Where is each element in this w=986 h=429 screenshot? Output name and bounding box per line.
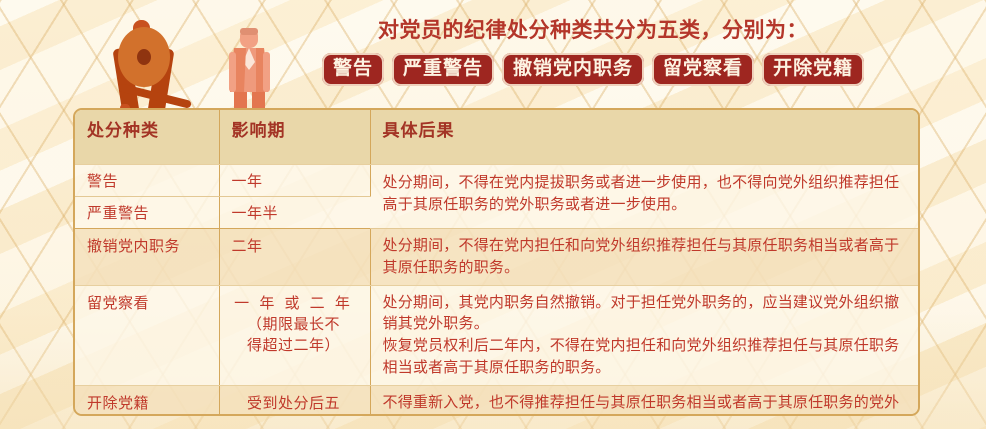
discipline-table: 处分种类 影响期 具体后果 警告 一年 处分期间，不得在党内提拔职务或者进一步使… <box>75 110 918 416</box>
cell-kind-expulsion: 开除党籍 <box>75 385 219 416</box>
period-line-2: （期限最长不 <box>230 313 358 334</box>
badge-expulsion[interactable]: 开除党籍 <box>762 53 864 86</box>
period-line-1: 受到处分后五 <box>230 392 358 413</box>
column-header-kind: 处分种类 <box>75 110 219 165</box>
badge-warning[interactable]: 警告 <box>322 53 384 86</box>
discipline-table-container: 处分种类 影响期 具体后果 警告 一年 处分期间，不得在党内提拔职务或者进一步使… <box>73 108 920 416</box>
consequence-paragraph-2: 恢复党员权利后二年内，不得在党内担任和向党外组织推荐担任与其原任职务相当或者高于… <box>383 335 909 379</box>
table-header-row: 处分种类 影响期 具体后果 <box>75 110 918 165</box>
column-header-consequence: 具体后果 <box>370 110 918 165</box>
badge-serious-warning[interactable]: 严重警告 <box>392 53 494 86</box>
cell-consequence-remove-post: 处分期间，不得在党内担任和向党外组织推荐担任与其原任职务相当或者高于其原任职务的… <box>370 229 918 286</box>
table-row: 开除党籍 受到处分后五 年 不得重新入党，也不得推荐担任与其原任职务相当或者高于… <box>75 385 918 416</box>
cell-consequence-expulsion: 不得重新入党，也不得推荐担任与其原任职务相当或者高于其原任职务的党外职务。 <box>370 385 918 416</box>
cell-consequence-probation: 处分期间，其党内职务自然撤销。对于担任党外职务的，应当建议党外组织撤销其党外职务… <box>370 285 918 385</box>
cell-period-serious-warning: 一年半 <box>219 197 370 229</box>
cell-kind-remove-post: 撤销党内职务 <box>75 229 219 286</box>
period-line-3: 得超过二年） <box>230 334 358 355</box>
table-row: 警告 一年 处分期间，不得在党内提拔职务或者进一步使用，也不得向党外组织推荐担任… <box>75 165 918 197</box>
illustration-group <box>0 0 330 125</box>
cell-period-probation: 一 年 或 二 年 （期限最长不 得超过二年） <box>219 285 370 385</box>
cell-period-remove-post: 二年 <box>219 229 370 286</box>
cell-consequence-warning: 处分期间，不得在党内提拔职务或者进一步使用，也不得向党外组织推荐担任高于其原任职… <box>370 165 918 229</box>
cell-period-warning: 一年 <box>219 165 370 197</box>
cell-period-expulsion: 受到处分后五 年 <box>219 385 370 416</box>
table-row: 撤销党内职务 二年 处分期间，不得在党内担任和向党外组织推荐担任与其原任职务相当… <box>75 229 918 286</box>
table-header: 处分种类 影响期 具体后果 <box>75 110 918 165</box>
table-row: 留党察看 一 年 或 二 年 （期限最长不 得超过二年） 处分期间，其党内职务自… <box>75 285 918 385</box>
badge-remove-post[interactable]: 撤销党内职务 <box>502 53 644 86</box>
badge-probation[interactable]: 留党察看 <box>652 53 754 86</box>
gavel-icon <box>112 20 191 122</box>
cell-kind-probation: 留党察看 <box>75 285 219 385</box>
column-header-period: 影响期 <box>219 110 370 165</box>
page-title: 对党员的纪律处分种类共分为五类，分别为： <box>378 14 808 44</box>
infographic-poster: 对党员的纪律处分种类共分为五类，分别为： 警告 严重警告 撤销党内职务 留党察看… <box>0 0 986 429</box>
cell-kind-warning: 警告 <box>75 165 219 197</box>
period-line-1: 一 年 或 二 年 <box>230 292 358 313</box>
table-body: 警告 一年 处分期间，不得在党内提拔职务或者进一步使用，也不得向党外组织推荐担任… <box>75 165 918 417</box>
consequence-paragraph-1: 处分期间，其党内职务自然撤销。对于担任党外职务的，应当建议党外组织撤销其党外职务… <box>383 292 909 336</box>
period-line-2: 年 <box>230 413 358 417</box>
cell-kind-serious-warning: 严重警告 <box>75 197 219 229</box>
discipline-type-badge-row: 警告 严重警告 撤销党内职务 留党察看 开除党籍 <box>322 53 864 86</box>
